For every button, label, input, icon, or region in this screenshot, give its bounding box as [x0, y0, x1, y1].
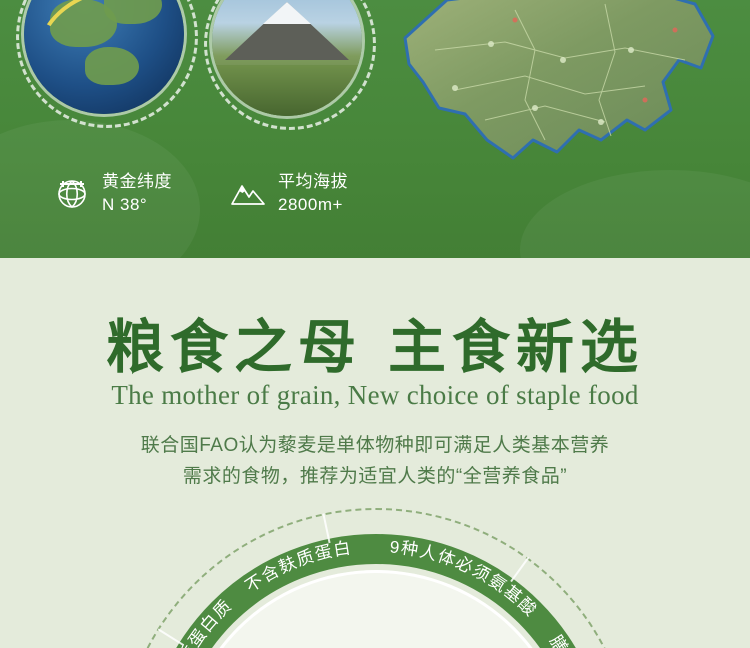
stat-altitude: 平均海拔 2800m+	[228, 170, 348, 216]
description-text: 联合国FAO认为藜麦是单体物种即可满足人类基本营养 需求的食物，推荐为适宜人类的…	[0, 430, 750, 492]
mountain-snowcap	[263, 2, 311, 24]
description-line-1: 联合国FAO认为藜麦是单体物种即可满足人类基本营养	[0, 430, 750, 461]
hero-section: 黄金纬度 N 38° 平均海拔 2800m+	[0, 0, 750, 258]
headline-part1: 粮食之母	[106, 315, 362, 380]
stat-altitude-value: 2800m+	[278, 193, 348, 216]
description-line-2: 需求的食物，推荐为适宜人类的“全营养食品”	[0, 461, 750, 492]
stat-altitude-text: 平均海拔 2800m+	[278, 170, 348, 216]
mountain-icon	[228, 173, 268, 213]
quinoa-benefit-ring: 优质蛋白质 不含麸质蛋白 9种人体必须氨基酸 膳食纤维含量高	[118, 508, 634, 648]
subtitle-english: The mother of grain, New choice of stapl…	[0, 380, 750, 411]
region-map	[395, 0, 725, 200]
stat-latitude: 黄金纬度 N 38°	[52, 170, 172, 216]
globe-icon	[52, 173, 92, 213]
stat-latitude-label: 黄金纬度	[102, 172, 172, 191]
headline-part2: 主食新选	[388, 315, 644, 380]
mountain-field	[212, 65, 362, 116]
product-detail-page: 黄金纬度 N 38° 平均海拔 2800m+ 粮食之母主食新选 The moth…	[0, 0, 750, 648]
page-title: 粮食之母主食新选	[0, 300, 750, 384]
mountain-photo	[212, 0, 362, 116]
intro-section: 粮食之母主食新选 The mother of grain, New choice…	[0, 258, 750, 648]
earth-globe-photo	[24, 0, 184, 114]
stat-latitude-value: N 38°	[102, 193, 172, 216]
stat-latitude-text: 黄金纬度 N 38°	[102, 170, 172, 216]
stat-altitude-label: 平均海拔	[278, 172, 348, 191]
